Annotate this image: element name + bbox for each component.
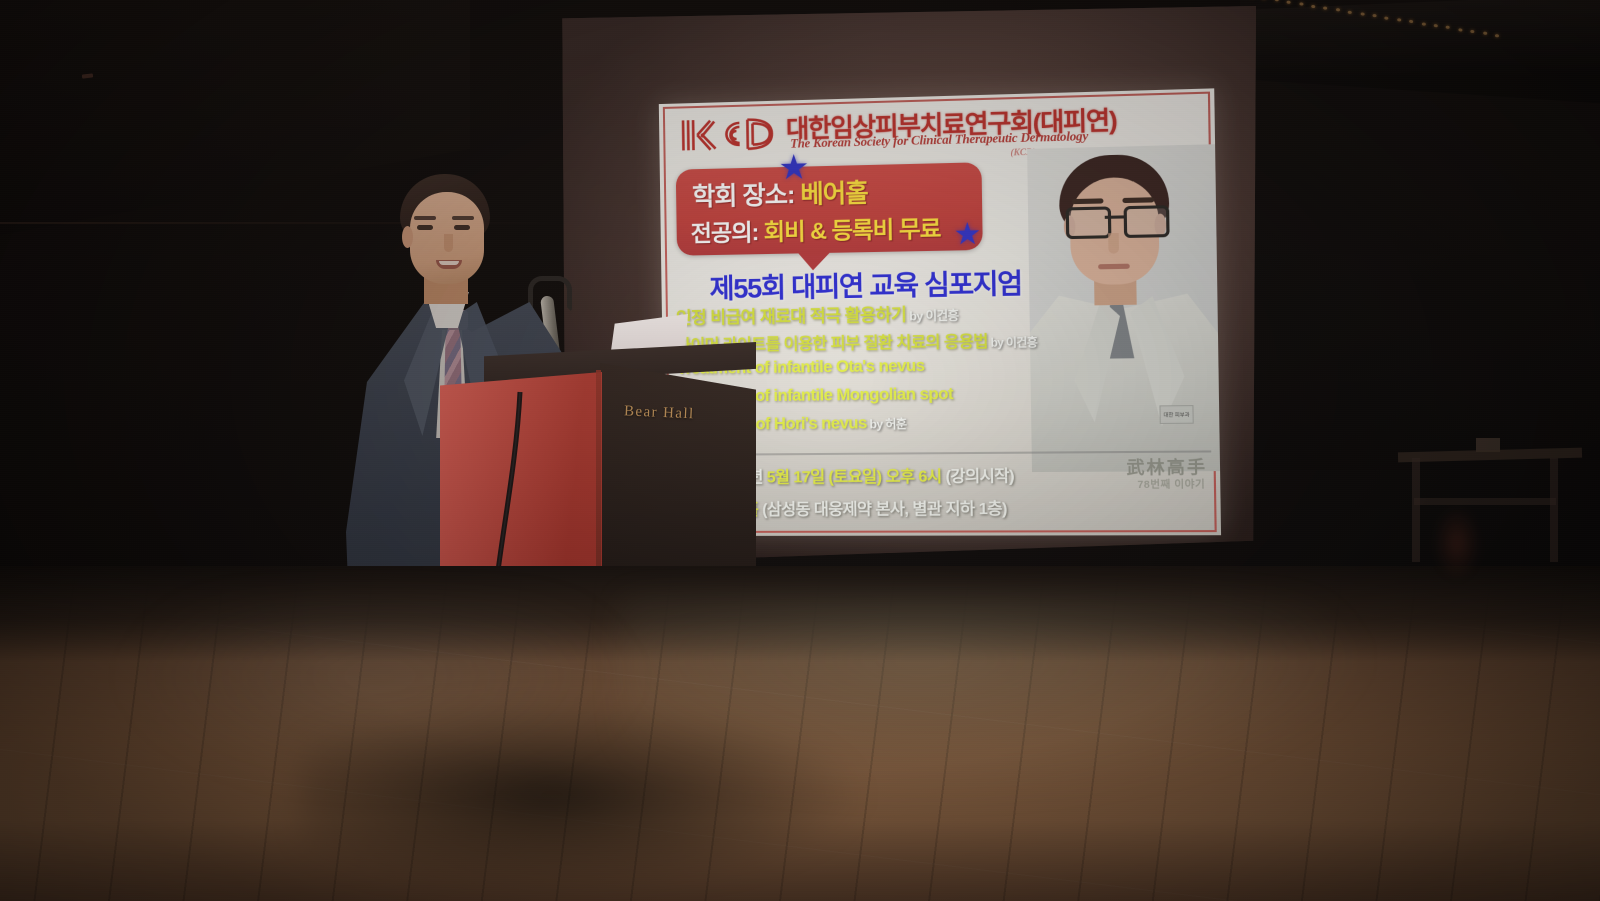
bubble-line1-value: 베어홀 xyxy=(800,179,868,209)
speaker-eye-right xyxy=(454,225,470,230)
speaker-nose xyxy=(444,234,453,252)
truss-light-dot xyxy=(1274,0,1278,2)
truss-light-dot xyxy=(1434,24,1438,27)
truss-light-dot xyxy=(1385,16,1389,19)
program-line-presenter: by 이건흥 xyxy=(988,337,1038,350)
truss-light-dot xyxy=(1323,6,1327,9)
floor-vignette xyxy=(0,566,1600,901)
speaker-brow-left xyxy=(414,216,436,220)
bubble-line2-value: 회비 & 등록비 무료 xyxy=(764,215,941,245)
side-table-leg-right xyxy=(1550,458,1558,562)
program-line-text: 인정 비급여 재료대 적극 활용하기 xyxy=(676,305,907,328)
event-info-highlight: 5월 17일 (토요일) 오후 6시 xyxy=(767,468,942,486)
speaker-ear xyxy=(402,226,413,248)
truss-light-dot xyxy=(1409,20,1413,23)
truss-light-dot xyxy=(1470,30,1474,33)
truss-light-dot xyxy=(1360,12,1364,15)
bubble-line-fee: 전공의: 회비 & 등록비 무료 xyxy=(690,209,940,248)
event-info-suffix: (삼성동 대웅제약 본사, 별관 지하 1층) xyxy=(758,501,1007,519)
truss-light-dot xyxy=(1372,14,1376,17)
truss-light-dot xyxy=(1336,8,1340,11)
truss-light-dot xyxy=(1458,28,1462,31)
speaker-eye-left xyxy=(417,225,433,230)
portrait-brow-left xyxy=(1072,198,1104,204)
truss-light-dot xyxy=(1348,10,1352,13)
side-table xyxy=(1398,432,1582,564)
venue-speech-bubble: 학회 장소: 베어홀 전공의: 회비 & 등록비 무료 xyxy=(676,162,983,255)
portrait-nose xyxy=(1108,233,1119,254)
bubble-line2-label: 전공의: xyxy=(691,219,764,247)
side-table-leg-left xyxy=(1412,458,1420,562)
truss-light-dot xyxy=(1495,34,1499,37)
side-table-crossbar xyxy=(1414,498,1556,505)
symposium-title: 제55회 대피연 교육 심포지엄 xyxy=(709,261,1022,306)
star-icon-top: ★ xyxy=(778,150,809,185)
portrait-brow-right xyxy=(1122,197,1154,203)
truss-light-dot xyxy=(1287,0,1291,3)
portrait-mouth xyxy=(1098,264,1130,270)
kcd-logo-icon xyxy=(677,112,782,157)
program-line-presenter: by 이건흥 xyxy=(906,308,958,323)
program-line-presenter: by 허훈 xyxy=(867,417,907,432)
truss-light-dot xyxy=(1299,2,1303,5)
side-table-glow xyxy=(1434,506,1480,580)
speaker-portrait-photo: 대한 피부과 xyxy=(1027,144,1220,472)
truss-light-dot xyxy=(1446,26,1450,29)
star-icon-bottom: ★ xyxy=(953,219,981,250)
program-line: 인정 비급여 재료대 적극 활용하기 by 이건흥 xyxy=(676,299,959,328)
conference-hall-scene: 대한임상피부치료연구회(대피연) The Korean Society for … xyxy=(0,0,1600,901)
event-info-suffix: (강의시작) xyxy=(941,468,1014,486)
portrait-glasses-icon xyxy=(1066,205,1163,234)
watermark-subtitle: 78번째 이야기 xyxy=(1137,475,1205,491)
truss-light-dot xyxy=(1397,18,1401,21)
speaker-brow-right xyxy=(452,216,474,220)
portrait-name-badge: 대한 피부과 xyxy=(1159,405,1193,424)
truss-light-dot xyxy=(1421,22,1425,25)
truss-light-dot xyxy=(1311,4,1315,7)
truss-light-dot xyxy=(1483,32,1487,35)
